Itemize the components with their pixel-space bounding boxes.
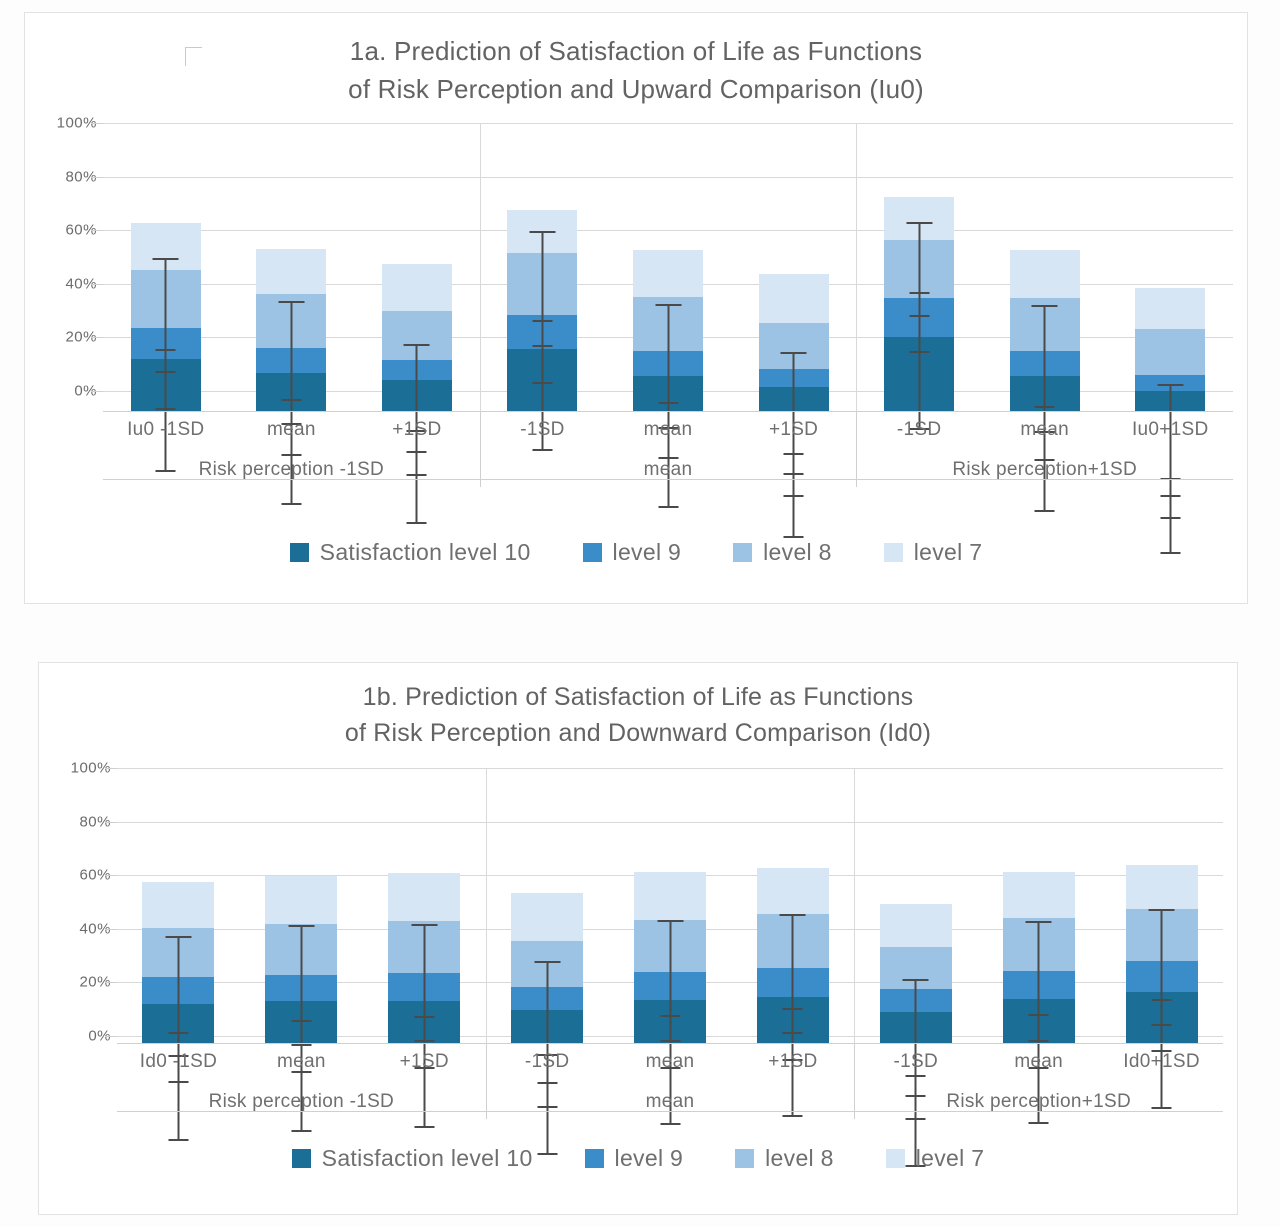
error-cap-level8 — [660, 1015, 680, 1017]
chart-title-1b: 1b. Prediction of Satisfaction of Life a… — [39, 663, 1237, 752]
bar-cell — [731, 123, 857, 411]
bar-groups-1b — [117, 768, 1223, 1043]
y-tick-mark — [105, 768, 117, 769]
bar-segment-level-7 — [757, 868, 829, 915]
error-cap-level10-high — [909, 351, 929, 353]
category-label: +1SD — [354, 419, 480, 441]
category-label: mean — [605, 419, 731, 441]
category-group: -1SDmean+1SDmean — [486, 1051, 855, 1073]
plot-area-1a: 0%20%40%60%80%100% — [25, 123, 1247, 411]
y-axis-labels-1b: 0%20%40%60%80%100% — [39, 768, 117, 1043]
bar-segment-level-7 — [1135, 288, 1205, 330]
group-label: Risk perception+1SD — [854, 1091, 1223, 1113]
bar-segment-level-7 — [880, 904, 952, 947]
error-cap-top — [655, 304, 681, 306]
legend-item[interactable]: level 9 — [585, 1145, 684, 1172]
category-label: +1SD — [731, 1051, 854, 1073]
group-label: Risk perception+1SD — [856, 459, 1233, 481]
stacked-bar[interactable] — [633, 250, 703, 411]
chart-title-1a: 1a. Prediction of Satisfaction of Life a… — [25, 13, 1247, 108]
chart-title-1a-line1: 1a. Prediction of Satisfaction of Life a… — [85, 33, 1187, 71]
error-cap-top — [781, 352, 807, 354]
bar-group — [486, 768, 855, 1043]
bar-segment-level-7 — [256, 249, 326, 295]
legend-item[interactable]: level 9 — [583, 539, 682, 566]
error-cap-top — [278, 301, 304, 303]
bar-segment-level-7 — [633, 250, 703, 297]
bar-cell — [480, 123, 606, 411]
stacked-bar[interactable] — [759, 274, 829, 411]
legend-item[interactable]: level 8 — [735, 1145, 834, 1172]
error-cap-level9 — [532, 345, 552, 347]
legend-label: level 9 — [615, 1145, 684, 1172]
y-tick-mark — [91, 177, 103, 178]
legend-swatch-icon — [884, 543, 903, 562]
corner-bracket-mark — [185, 47, 202, 66]
error-cap-level9 — [1152, 1024, 1172, 1026]
stacked-bar[interactable] — [507, 210, 577, 411]
bar-segment-level-7 — [759, 274, 829, 322]
error-cap-bottom — [784, 536, 804, 538]
error-cap-bottom — [1035, 510, 1055, 512]
y-tick-mark — [91, 337, 103, 338]
legend-label: Satisfaction level 10 — [322, 1145, 533, 1172]
legend-swatch-icon — [735, 1149, 754, 1168]
error-bar-stem — [918, 222, 920, 428]
legend-item[interactable]: level 7 — [884, 539, 983, 566]
bar-segment-level-7 — [634, 872, 706, 920]
legend-swatch-icon — [583, 543, 602, 562]
bar-segment-level-7 — [142, 882, 214, 928]
error-cap-top — [404, 344, 430, 346]
category-group: -1SDmeanId0+1SDRisk perception+1SD — [854, 1051, 1223, 1073]
y-tick-mark — [105, 875, 117, 876]
error-cap-top — [906, 222, 932, 224]
category-separator — [480, 411, 481, 487]
category-label: mean — [982, 419, 1108, 441]
stacked-bar[interactable] — [142, 882, 214, 1043]
category-label: -1SD — [856, 419, 982, 441]
error-cap-top — [411, 924, 437, 926]
stacked-bar[interactable] — [511, 893, 583, 1043]
category-label: +1SD — [731, 419, 857, 441]
category-label: -1SD — [480, 419, 606, 441]
category-label: Id0 -1SD — [117, 1051, 240, 1073]
legend-label: Satisfaction level 10 — [320, 539, 531, 566]
legend-swatch-icon — [886, 1149, 905, 1168]
y-tick-mark — [91, 230, 103, 231]
error-cap-top — [780, 914, 806, 916]
error-cap-level8 — [281, 399, 301, 401]
bar-cell — [609, 768, 732, 1043]
bar-cell — [854, 768, 977, 1043]
bar-segment-level-7 — [388, 873, 460, 921]
legend-item[interactable]: Satisfaction level 10 — [290, 539, 531, 566]
bar-cell — [229, 123, 355, 411]
stacked-bar[interactable] — [884, 197, 954, 411]
bar-segment-level-7 — [1126, 865, 1198, 909]
bar-cell — [486, 768, 609, 1043]
bar-group — [854, 768, 1223, 1043]
legend-item[interactable]: Satisfaction level 10 — [292, 1145, 533, 1172]
y-tick-mark — [105, 822, 117, 823]
legend-swatch-icon — [733, 543, 752, 562]
error-cap-level9 — [156, 371, 176, 373]
bar-group — [103, 123, 480, 411]
bar-group — [856, 123, 1233, 411]
error-cap-level8 — [291, 1020, 311, 1022]
bar-segment-level-7 — [1010, 250, 1080, 298]
y-tick-mark — [105, 1036, 117, 1037]
bar-cell — [117, 768, 240, 1043]
category-label: Iu0 -1SD — [103, 419, 229, 441]
chart-title-1a-line2: of Risk Perception and Upward Comparison… — [85, 71, 1187, 109]
error-cap-level9 — [783, 1032, 803, 1034]
bar-groups-1a — [103, 123, 1233, 411]
group-label: mean — [480, 459, 857, 481]
category-label: mean — [229, 419, 355, 441]
legend-label: level 9 — [613, 539, 682, 566]
legend-swatch-icon — [292, 1149, 311, 1168]
y-tick-mark — [105, 982, 117, 983]
bar-cell — [103, 123, 229, 411]
category-label: mean — [977, 1051, 1100, 1073]
error-cap-level8 — [658, 402, 678, 404]
stacked-bar[interactable] — [265, 876, 337, 1043]
stacked-bar[interactable] — [880, 904, 952, 1043]
bar-cell — [1100, 768, 1223, 1043]
bar-segment-level-7 — [1003, 872, 1075, 919]
bar-segment-level-7 — [265, 876, 337, 924]
y-axis-labels-1a: 0%20%40%60%80%100% — [25, 123, 103, 411]
error-cap-top — [288, 925, 314, 927]
bar-cell — [1107, 123, 1233, 411]
stacked-bar[interactable] — [131, 223, 201, 411]
bar-cell — [363, 768, 486, 1043]
stacked-bar[interactable] — [634, 872, 706, 1043]
stacked-bar[interactable] — [1126, 865, 1198, 1043]
y-tick-mark — [91, 123, 103, 124]
category-label: -1SD — [486, 1051, 609, 1073]
chart-title-1b-line2: of Risk Perception and Downward Comparis… — [99, 715, 1177, 751]
error-cap-top — [903, 979, 929, 981]
error-cap-level8 — [909, 292, 929, 294]
group-label: Risk perception -1SD — [117, 1091, 486, 1113]
error-cap-level8 — [532, 320, 552, 322]
legend-1b: Satisfaction level 10level 9level 8level… — [39, 1145, 1237, 1172]
error-cap-level10-high — [1160, 517, 1180, 519]
error-cap-top — [1149, 909, 1175, 911]
error-cap-level8 — [1035, 406, 1055, 408]
axis-line — [103, 411, 1233, 412]
figure-page: 1a. Prediction of Satisfaction of Life a… — [0, 0, 1280, 1227]
group-label: Risk perception -1SD — [103, 459, 480, 481]
category-label: -1SD — [854, 1051, 977, 1073]
category-label: mean — [240, 1051, 363, 1073]
error-cap-top — [165, 936, 191, 938]
y-tick-mark — [105, 929, 117, 930]
category-label: Id0+1SD — [1100, 1051, 1223, 1073]
category-axis-1a: Iu0 -1SDmean+1SDRisk perception -1SD-1SD… — [25, 411, 1247, 507]
y-tick-mark — [91, 391, 103, 392]
legend-label: level 8 — [763, 539, 832, 566]
error-cap-bottom — [407, 522, 427, 524]
bar-segment-level-7 — [511, 893, 583, 941]
category-separator — [486, 1043, 487, 1119]
y-tick-mark — [91, 284, 103, 285]
bar-cell — [982, 123, 1108, 411]
error-cap-top — [1157, 384, 1183, 386]
category-group: -1SDmeanIu0+1SDRisk perception+1SD — [856, 419, 1233, 441]
legend-label: level 7 — [914, 539, 983, 566]
error-cap-level8 — [168, 1032, 188, 1034]
error-cap-top — [1026, 921, 1052, 923]
stacked-bar[interactable] — [757, 868, 829, 1044]
chart-title-1b-line1: 1b. Prediction of Satisfaction of Life a… — [99, 679, 1177, 715]
error-cap-level9 — [909, 315, 929, 317]
category-separator — [856, 411, 857, 487]
stacked-bar[interactable] — [1003, 872, 1075, 1043]
error-cap-bottom — [168, 1139, 188, 1141]
bar-group — [117, 768, 486, 1043]
stacked-bar[interactable] — [256, 249, 326, 411]
group-label: mean — [486, 1091, 855, 1113]
category-label: Iu0+1SD — [1107, 419, 1233, 441]
stacked-bar[interactable] — [382, 264, 452, 411]
error-cap-top — [1032, 305, 1058, 307]
bar-cell — [977, 768, 1100, 1043]
bar-cell — [856, 123, 982, 411]
error-cap-level8 — [1152, 999, 1172, 1001]
legend-1a: Satisfaction level 10level 9level 8level… — [25, 539, 1247, 566]
category-label: mean — [609, 1051, 732, 1073]
axis-line — [117, 1043, 1223, 1044]
legend-swatch-icon — [290, 543, 309, 562]
legend-item[interactable]: level 7 — [886, 1145, 985, 1172]
legend-item[interactable]: level 8 — [733, 539, 832, 566]
bar-segment-level-8 — [1135, 329, 1205, 375]
error-cap-top — [657, 920, 683, 922]
category-separator — [854, 1043, 855, 1119]
category-axis-1b: Id0 -1SDmean+1SDRisk perception -1SD-1SD… — [39, 1043, 1237, 1133]
error-cap-top — [529, 231, 555, 233]
error-cap-level10-high — [532, 382, 552, 384]
chart-panel-1a: 1a. Prediction of Satisfaction of Life a… — [24, 12, 1248, 604]
error-cap-level8 — [1029, 1014, 1049, 1016]
legend-label: level 8 — [765, 1145, 834, 1172]
legend-label: level 7 — [916, 1145, 985, 1172]
stacked-bar[interactable] — [1135, 288, 1205, 411]
error-cap-level8 — [783, 1008, 803, 1010]
category-group: Iu0 -1SDmean+1SDRisk perception -1SD — [103, 419, 480, 441]
bar-cell — [354, 123, 480, 411]
bar-cell — [605, 123, 731, 411]
category-group: Id0 -1SDmean+1SDRisk perception -1SD — [117, 1051, 486, 1073]
bar-segment-level-7 — [382, 264, 452, 311]
bar-group — [480, 123, 857, 411]
stacked-bar[interactable] — [1010, 250, 1080, 411]
error-bar — [919, 222, 920, 428]
stacked-bar[interactable] — [388, 873, 460, 1043]
bar-cell — [240, 768, 363, 1043]
category-group: -1SDmean+1SDmean — [480, 419, 857, 441]
bar-cell — [731, 768, 854, 1043]
category-label: +1SD — [363, 1051, 486, 1073]
plot-area-1b: 0%20%40%60%80%100% — [39, 768, 1237, 1043]
legend-swatch-icon — [585, 1149, 604, 1168]
error-cap-top — [153, 258, 179, 260]
chart-panel-1b: 1b. Prediction of Satisfaction of Life a… — [38, 662, 1238, 1215]
error-cap-top — [534, 961, 560, 963]
error-cap-level8 — [156, 349, 176, 351]
error-cap-level8 — [414, 1016, 434, 1018]
